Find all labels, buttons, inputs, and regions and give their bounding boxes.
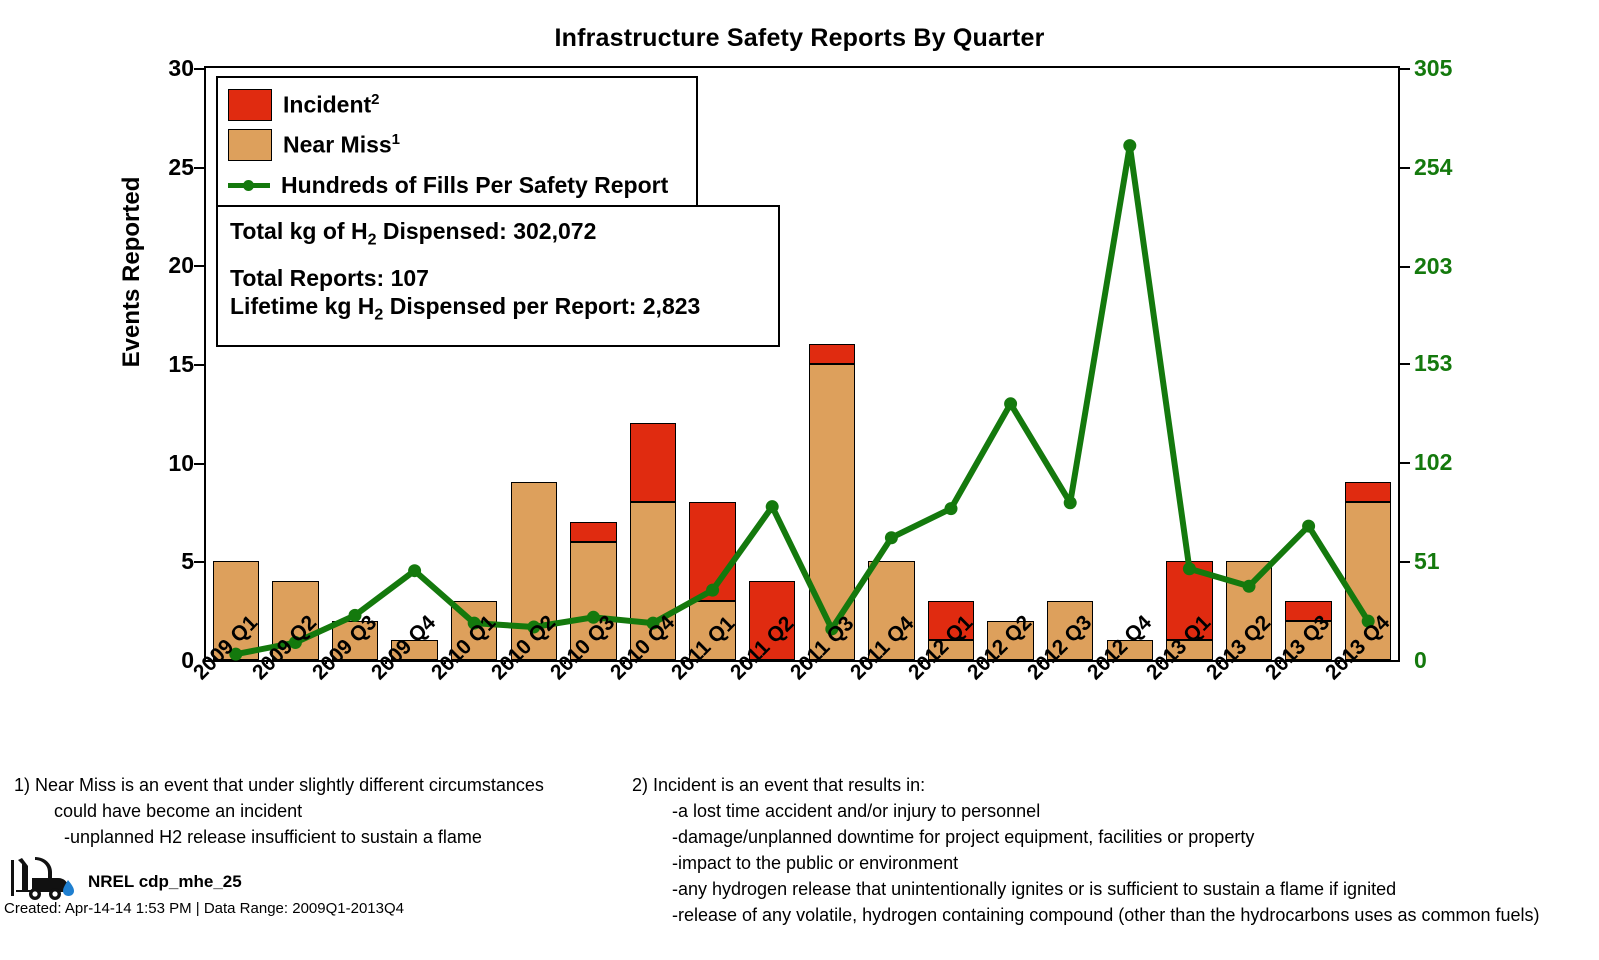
line-marker-2011-q1 xyxy=(706,584,719,597)
y-tick-mark-left xyxy=(194,68,204,70)
line-marker-2013-q3 xyxy=(1302,520,1315,533)
page-title: Infrastructure Safety Reports By Quarter xyxy=(0,24,1599,53)
x-axis-tick-labels: 2009 Q12009 Q22009 Q32009 Q42010 Q12010 … xyxy=(204,662,1400,772)
legend-label-fills-line: Hundreds of Fills Per Safety Report xyxy=(281,172,668,199)
line-marker-2012-q1 xyxy=(945,502,958,515)
footnote-incident: 2) Incident is an event that results in:… xyxy=(632,772,1540,929)
footnote-1-line-2: could have become an incident xyxy=(14,798,544,824)
incident-swatch xyxy=(228,89,272,121)
line-marker-2013-q1 xyxy=(1183,562,1196,575)
footnote-1-line-1: 1) Near Miss is an event that under slig… xyxy=(14,772,544,798)
footnote-2-line-4: -impact to the public or environment xyxy=(632,850,1540,876)
y-tick-left-25: 25 xyxy=(134,154,194,181)
y-tick-left-5: 5 xyxy=(134,548,194,575)
stat-lifetime-kg: Lifetime kg H2 Dispensed per Report: 2,8… xyxy=(230,292,766,325)
line-marker-2013-q2 xyxy=(1243,580,1256,593)
y-tick-left-30: 30 xyxy=(134,55,194,82)
stats-box: Total kg of H2 Dispensed: 302,072 Total … xyxy=(216,205,780,347)
footnote-2-line-5: -any hydrogen release that unintentional… xyxy=(632,876,1540,902)
y-tick-mark-right xyxy=(1400,363,1410,365)
y-tick-mark-left xyxy=(194,561,204,563)
y-tick-mark-left xyxy=(194,364,204,366)
line-swatch xyxy=(228,170,270,200)
line-marker-2011-q4 xyxy=(885,531,898,544)
y-tick-mark-right xyxy=(1400,462,1410,464)
y-tick-mark-left xyxy=(194,265,204,267)
legend: Incident2 Near Miss1 Hundreds of Fills P… xyxy=(216,76,698,215)
y-tick-right-0: 0 xyxy=(1414,647,1484,674)
created-label: Created: Apr-14-14 1:53 PM | Data Range:… xyxy=(4,900,404,917)
chart-page: Infrastructure Safety Reports By Quarter… xyxy=(0,0,1599,960)
near-miss-swatch xyxy=(228,129,272,161)
y-tick-right-51: 51 xyxy=(1414,548,1484,575)
plot-inner: Incident2 Near Miss1 Hundreds of Fills P… xyxy=(206,68,1398,660)
footnote-2-line-1: 2) Incident is an event that results in: xyxy=(632,772,1540,798)
legend-label-incident: Incident2 xyxy=(283,91,380,119)
footnote-2-line-2: -a lost time accident and/or injury to p… xyxy=(632,798,1540,824)
line-marker-2011-q2 xyxy=(766,500,779,513)
y-tick-right-153: 153 xyxy=(1414,350,1484,377)
y-tick-mark-right xyxy=(1400,68,1410,70)
y-tick-mark-left xyxy=(194,167,204,169)
y-tick-right-203: 203 xyxy=(1414,253,1484,280)
y-tick-left-10: 10 xyxy=(134,450,194,477)
line-marker-2012-q3 xyxy=(1064,496,1077,509)
legend-item-incident: Incident2 xyxy=(228,85,688,125)
legend-label-near-miss: Near Miss1 xyxy=(283,131,400,159)
line-marker-2009-q4 xyxy=(408,564,421,577)
footnote-2-line-6: -release of any volatile, hydrogen conta… xyxy=(632,902,1540,928)
legend-item-fills-line: Hundreds of Fills Per Safety Report xyxy=(228,165,688,205)
footnote-1-line-3: -unplanned H2 release insufficient to su… xyxy=(14,824,544,850)
plot-area: Incident2 Near Miss1 Hundreds of Fills P… xyxy=(204,66,1400,662)
y-tick-left-15: 15 xyxy=(134,351,194,378)
y-tick-left-0: 0 xyxy=(134,647,194,674)
footnote-2-line-3: -damage/unplanned downtime for project e… xyxy=(632,824,1540,850)
footnote-near-miss: 1) Near Miss is an event that under slig… xyxy=(14,772,544,850)
stat-total-reports: Total Reports: 107 xyxy=(230,264,766,292)
y-tick-right-102: 102 xyxy=(1414,449,1484,476)
y-tick-mark-right xyxy=(1400,167,1410,169)
y-tick-mark-left xyxy=(194,463,204,465)
y-tick-right-254: 254 xyxy=(1414,154,1484,181)
line-marker-2012-q4 xyxy=(1123,139,1136,152)
stat-total-kg: Total kg of H2 Dispensed: 302,072 xyxy=(230,217,766,250)
y-tick-mark-right xyxy=(1400,561,1410,563)
y-tick-left-20: 20 xyxy=(134,252,194,279)
forklift-icon xyxy=(8,856,86,900)
legend-item-near-miss: Near Miss1 xyxy=(228,125,688,165)
line-marker-2012-q2 xyxy=(1004,397,1017,410)
nrel-label: NREL cdp_mhe_25 xyxy=(88,872,242,892)
y-tick-right-305: 305 xyxy=(1414,55,1484,82)
y-tick-mark-right xyxy=(1400,266,1410,268)
